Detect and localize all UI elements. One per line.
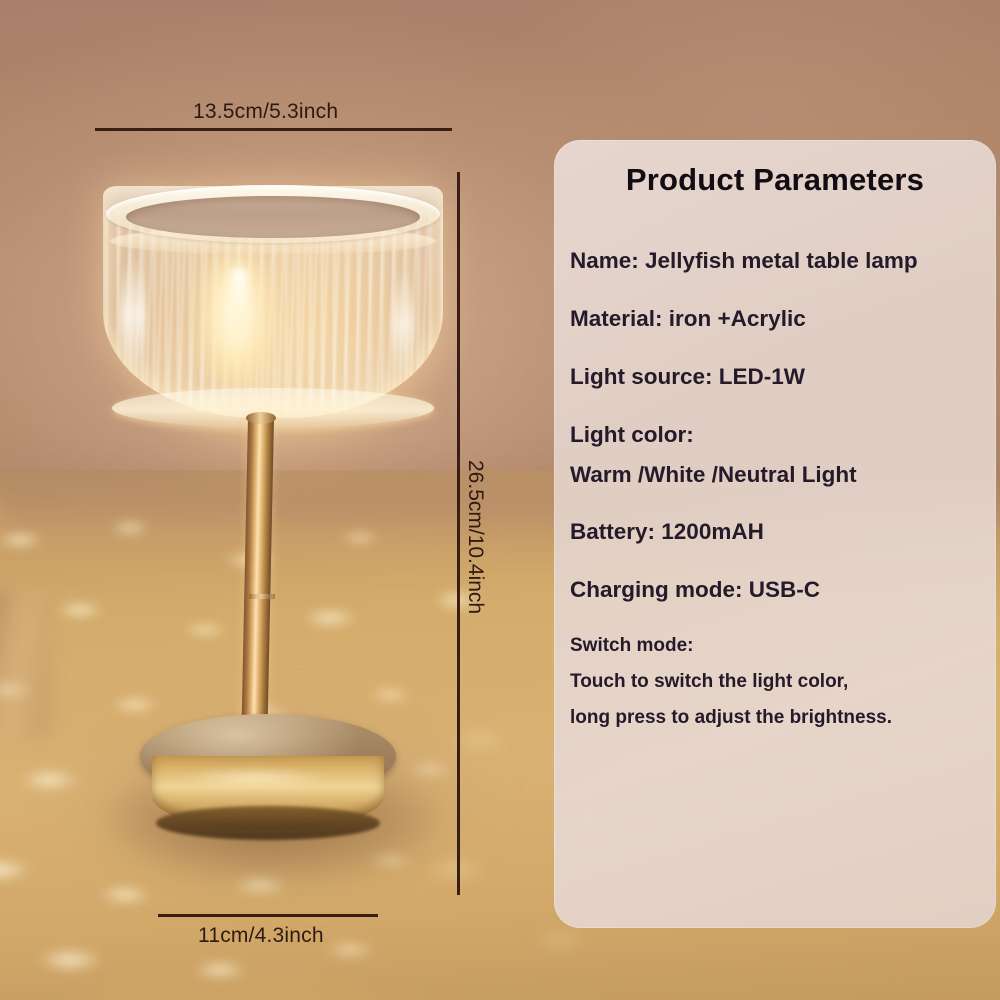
lamp-bulb-core [231,268,247,358]
parameter-row-light-source: Light source: LED-1W [570,364,990,390]
product-image-stage: 13.5cm/5.3inch 26.5cm/10.4inch 11cm/4.3i… [0,0,1000,1000]
parameter-row-switch-mode-line1: Touch to switch the light color, [570,671,990,693]
dimension-label-lamp-height: 26.5cm/10.4inch [463,460,487,614]
dimension-line-lamp-height [457,172,460,895]
shade-specular-highlight-right [392,268,414,378]
dimension-line-shade-width [95,128,452,131]
parameter-row-battery: Battery: 1200mAH [570,519,990,545]
dimension-label-shade-width: 13.5cm/5.3inch [193,100,338,124]
lamp-stem-cap [246,412,276,424]
parameter-row-material: Material: iron +Acrylic [570,306,990,332]
lamp-shade-top-opening [126,196,420,238]
panel-parameter-list: Name: Jellyfish metal table lampMaterial… [570,248,990,755]
parameter-row-light-color-label: Light color: [570,422,990,448]
parameter-row-light-color-value: Warm /White /Neutral Light [570,462,990,488]
dimension-line-base-width [158,914,378,917]
lamp-base-foot [156,806,380,840]
product-parameters-panel: Product Parameters Name: Jellyfish metal… [554,140,996,928]
lamp-base-highlight [180,768,330,788]
lamp-stem-joint [249,594,275,599]
parameter-row-switch-mode-line2: long press to adjust the brightness. [570,707,990,729]
dimension-label-base-width: 11cm/4.3inch [198,924,324,948]
parameter-row-switch-mode-label: Switch mode: [570,635,990,657]
parameter-row-charging-mode: Charging mode: USB-C [570,577,990,603]
panel-title: Product Parameters [554,162,996,198]
parameter-row-name: Name: Jellyfish metal table lamp [570,248,990,274]
shade-specular-highlight-left [120,255,146,375]
